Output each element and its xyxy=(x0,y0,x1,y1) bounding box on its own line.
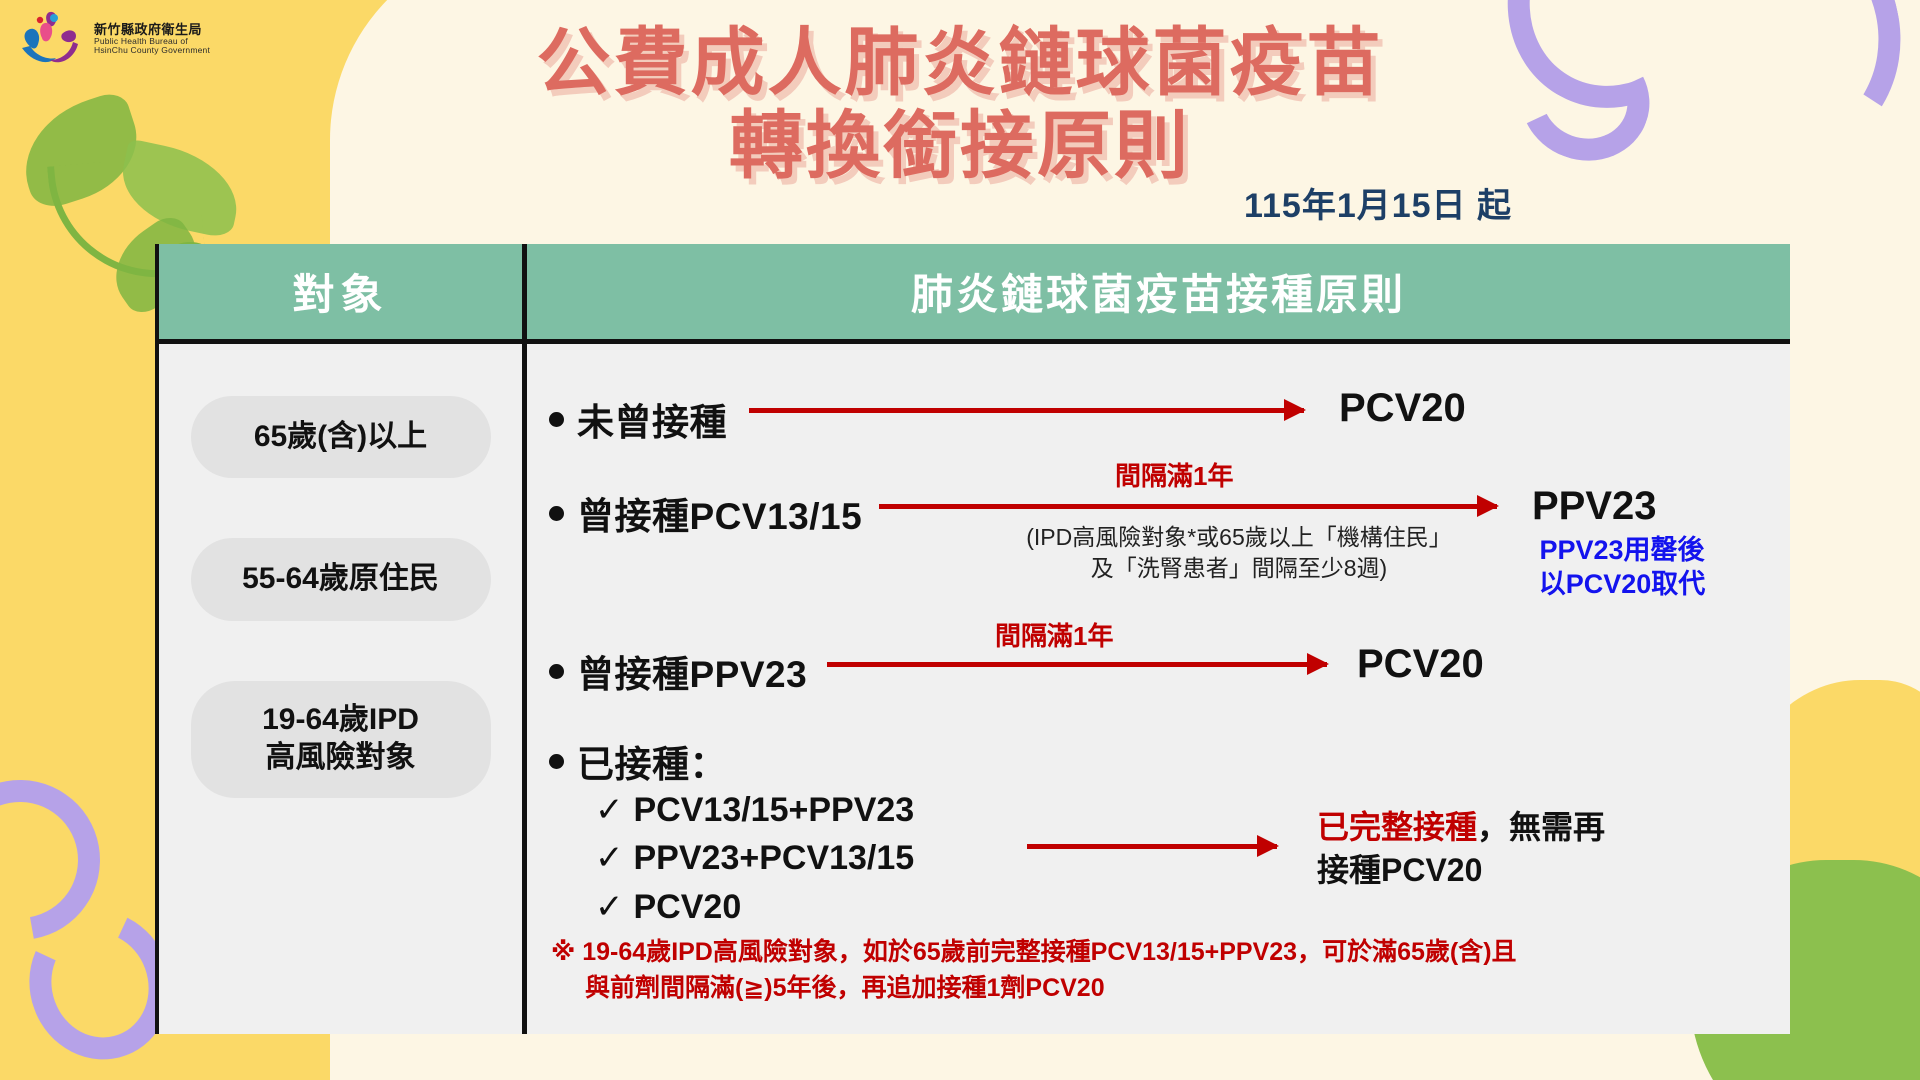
row-prior-ppv23: 曾接種PPV23 xyxy=(549,644,807,698)
row-never-vaccinated: 未曾接種 xyxy=(549,392,727,446)
check-item-label: PPV23+PCV13/15 xyxy=(634,839,915,877)
poster-canvas: 新竹縣政府衛生局 Public Health Bureau of HsinChu… xyxy=(0,0,1920,1080)
title-line-1: 公費成人肺炎鏈球菌疫苗 xyxy=(0,22,1920,105)
table-header-row: 對象 肺炎鏈球菌疫苗接種原則 xyxy=(159,244,1790,344)
result-highlight: 已完整接種 xyxy=(1317,809,1477,845)
check-item-label: PCV13/15+PPV23 xyxy=(634,791,915,829)
arrow-never-to-pcv20 xyxy=(749,408,1304,413)
logo-name-en-line2: HsinChu County Government xyxy=(94,46,210,55)
blue-note-line1: PPV23用罄後 xyxy=(1507,534,1737,568)
blue-note-line2: 以PCV20取代 xyxy=(1507,568,1737,602)
title-line-2: 轉換銜接原則 xyxy=(0,105,1920,188)
result-no-additional-dose: 已完整接種，無需再 接種PCV20 xyxy=(1317,806,1605,892)
result-rest: ，無需再 xyxy=(1477,809,1605,845)
bullet-icon xyxy=(549,412,564,427)
target-group-column: 65歲(含)以上 55-64歲原住民 19-64歲IPD 高風險對象 xyxy=(159,344,527,1034)
organization-logo: 新竹縣政府衛生局 Public Health Bureau of HsinChu… xyxy=(18,8,210,70)
table-body: 65歲(含)以上 55-64歲原住民 19-64歲IPD 高風險對象 未曾接種 … xyxy=(159,344,1790,1034)
target-pill-55-64-indigenous: 55-64歲原住民 xyxy=(191,538,491,620)
list-item: ✓PPV23+PCV13/15 xyxy=(595,834,914,882)
target-pcv20-row3: PCV20 xyxy=(1357,642,1484,687)
table-footnote: ※ 19-64歲IPD高風險對象，如於65歲前完整接種PCV13/15+PPV2… xyxy=(551,934,1517,1007)
arrow-completed-to-result xyxy=(1027,844,1277,849)
bullet-icon xyxy=(549,506,564,521)
row-label-prior-ppv23: 曾接種PPV23 xyxy=(577,644,807,698)
header-target-column: 對象 xyxy=(159,244,527,339)
list-item: ✓PCV20 xyxy=(595,883,914,931)
check-icon: ✓ xyxy=(595,839,624,877)
footnote-line1: ※ 19-64歲IPD高風險對象，如於65歲前完整接種PCV13/15+PPV2… xyxy=(551,934,1517,970)
target-pill-65-plus: 65歲(含)以上 xyxy=(191,396,491,478)
row-label-never-vaccinated: 未曾接種 xyxy=(577,392,727,446)
bullet-icon xyxy=(549,664,564,679)
arrow-pcv13-to-ppv23 xyxy=(879,504,1497,509)
completed-schedule-list: ✓PCV13/15+PPV23 ✓PPV23+PCV13/15 ✓PCV20 xyxy=(595,786,914,931)
poster-title: 公費成人肺炎鏈球菌疫苗 轉換銜接原則 xyxy=(0,22,1920,188)
note-interval-exception: (IPD高風險對象*或65歲以上「機構住民」 及「洗腎患者」間隔至少8週) xyxy=(939,522,1539,584)
target-pill-line2: 高風險對象 xyxy=(199,739,483,777)
note-line2: 及「洗腎患者」間隔至少8週) xyxy=(939,553,1539,584)
list-item: ✓PCV13/15+PPV23 xyxy=(595,786,914,834)
guideline-table: 對象 肺炎鏈球菌疫苗接種原則 65歲(含)以上 55-64歲原住民 19-64歲… xyxy=(155,244,1790,1034)
note-ppv23-replacement: PPV23用罄後 以PCV20取代 xyxy=(1507,534,1737,602)
target-pill-line1: 19-64歲IPD xyxy=(199,701,483,739)
target-ppv23-row2: PPV23 xyxy=(1532,484,1657,529)
arrow-label-interval-1year-row2: 間隔滿1年 xyxy=(1115,456,1233,493)
check-icon: ✓ xyxy=(595,888,624,926)
result-line2: 接種PCV20 xyxy=(1317,849,1605,892)
note-line1: (IPD高風險對象*或65歲以上「機構住民」 xyxy=(939,522,1539,553)
bullet-icon xyxy=(549,754,564,769)
row-label-prior-pcv13-15: 曾接種PCV13/15 xyxy=(577,486,862,540)
arrow-ppv23-to-pcv20 xyxy=(827,662,1327,667)
health-bureau-logo-icon xyxy=(18,8,84,70)
logo-name-cn: 新竹縣政府衛生局 xyxy=(94,23,210,37)
footnote-line2: 與前劑間隔滿(≧)5年後，再追加接種1劑PCV20 xyxy=(551,970,1517,1006)
principle-column: 未曾接種 PCV20 曾接種PCV13/15 間隔滿1年 PPV23 (IPD高… xyxy=(527,344,1790,1034)
arrow-label-interval-1year-row3: 間隔滿1年 xyxy=(995,616,1113,653)
row-prior-pcv13-15: 曾接種PCV13/15 xyxy=(549,486,862,540)
target-pill-19-64-ipd: 19-64歲IPD 高風險對象 xyxy=(191,681,491,798)
header-principle-column: 肺炎鏈球菌疫苗接種原則 xyxy=(527,244,1790,339)
target-pcv20-row1: PCV20 xyxy=(1339,386,1466,431)
check-item-label: PCV20 xyxy=(634,888,742,926)
effective-date-label: 115年1月15日 起 xyxy=(1244,178,1512,227)
check-icon: ✓ xyxy=(595,791,624,829)
row-label-already-completed: 已接種： xyxy=(577,734,727,788)
row-already-completed: 已接種： xyxy=(549,734,727,788)
